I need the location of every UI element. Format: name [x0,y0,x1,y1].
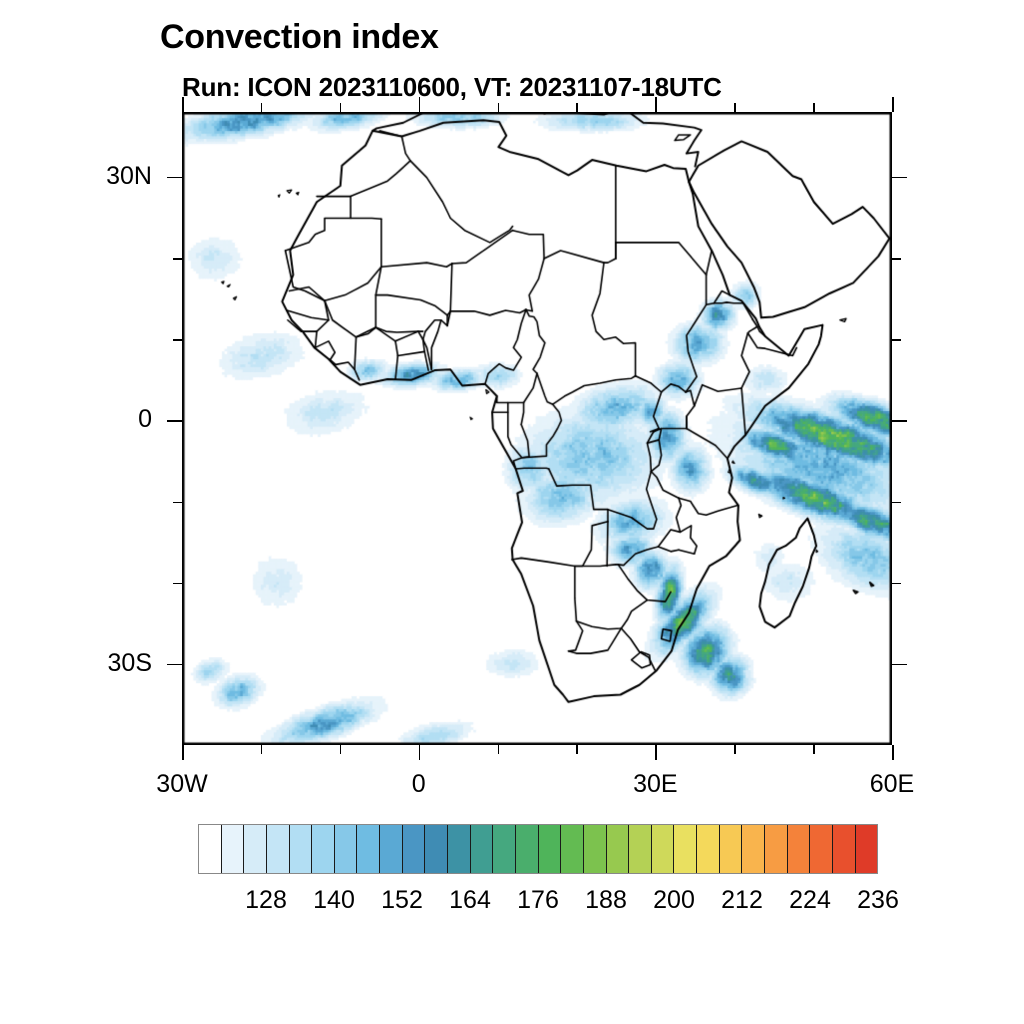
y-tick-label-0: 30N [52,162,152,191]
x-tick-mark [655,745,657,760]
x-tick-mark [182,745,184,760]
x-tick-mark [419,97,421,112]
colorbar-cell-23 [720,825,743,873]
colorbar-cell-17 [584,825,607,873]
colorbar-cell-28 [833,825,856,873]
x-tick-mark [576,103,578,112]
x-tick-mark [419,745,421,760]
colorbar-cell-0 [199,825,222,873]
x-tick-mark [498,103,500,112]
y-tick-label-3: 0 [52,405,152,434]
x-tick-mark [892,97,894,112]
colorbar-cell-15 [539,825,562,873]
colorbar-cell-5 [312,825,335,873]
x-tick-mark [261,745,263,754]
colorbar-cell-18 [607,825,630,873]
y-tick-mark [167,664,182,666]
colorbar [198,824,878,874]
x-tick-mark [813,745,815,754]
x-tick-mark [261,103,263,112]
colorbar-cell-1 [222,825,245,873]
x-tick-mark [892,745,894,760]
colorbar-cell-21 [674,825,697,873]
y-tick-mark [892,177,907,179]
y-tick-mark [167,420,182,422]
y-tick-mark [892,420,907,422]
x-tick-mark [576,745,578,754]
colorbar-cell-19 [629,825,652,873]
x-tick-mark [734,745,736,754]
colorbar-cell-22 [697,825,720,873]
colorbar-cell-14 [516,825,539,873]
x-tick-mark [498,745,500,754]
y-tick-mark [173,339,182,341]
x-tick-mark [340,745,342,754]
y-tick-mark [892,258,901,260]
colorbar-cell-16 [561,825,584,873]
y-tick-mark [892,583,901,585]
colorbar-cell-27 [810,825,833,873]
colorbar-cell-3 [267,825,290,873]
y-tick-mark [173,583,182,585]
colorbar-cell-20 [652,825,675,873]
y-tick-mark [173,502,182,504]
colorbar-cell-29 [856,825,878,873]
map-plot-area [182,112,892,745]
x-tick-label-3: 0 [359,770,479,799]
colorbar-cell-26 [788,825,811,873]
colorbar-cell-4 [290,825,313,873]
x-tick-label-9: 60E [832,770,952,799]
colorbar-cell-12 [471,825,494,873]
colorbar-cell-9 [403,825,426,873]
colorbar-cell-10 [425,825,448,873]
x-tick-mark [182,97,184,112]
y-tick-mark [892,339,901,341]
x-tick-label-0: 30W [122,770,242,799]
convection-index-map [183,113,891,744]
x-tick-mark [655,97,657,112]
x-tick-label-6: 30E [595,770,715,799]
y-tick-mark [167,177,182,179]
y-tick-label-6: 30S [52,649,152,678]
colorbar-cell-6 [335,825,358,873]
colorbar-cell-8 [380,825,403,873]
colorbar-cell-7 [357,825,380,873]
x-tick-mark [813,103,815,112]
colorbar-cell-11 [448,825,471,873]
x-tick-mark [734,103,736,112]
page-title: Convection index [160,18,439,57]
colorbar-cell-25 [765,825,788,873]
colorbar-tick-label-9: 236 [833,886,923,915]
x-tick-mark [340,103,342,112]
page-subtitle: Run: ICON 2023110600, VT: 20231107-18UTC [182,72,722,103]
y-tick-mark [173,258,182,260]
colorbar-cell-13 [493,825,516,873]
y-tick-mark [892,664,907,666]
colorbar-cell-2 [244,825,267,873]
colorbar-cell-24 [742,825,765,873]
y-tick-mark [892,502,901,504]
